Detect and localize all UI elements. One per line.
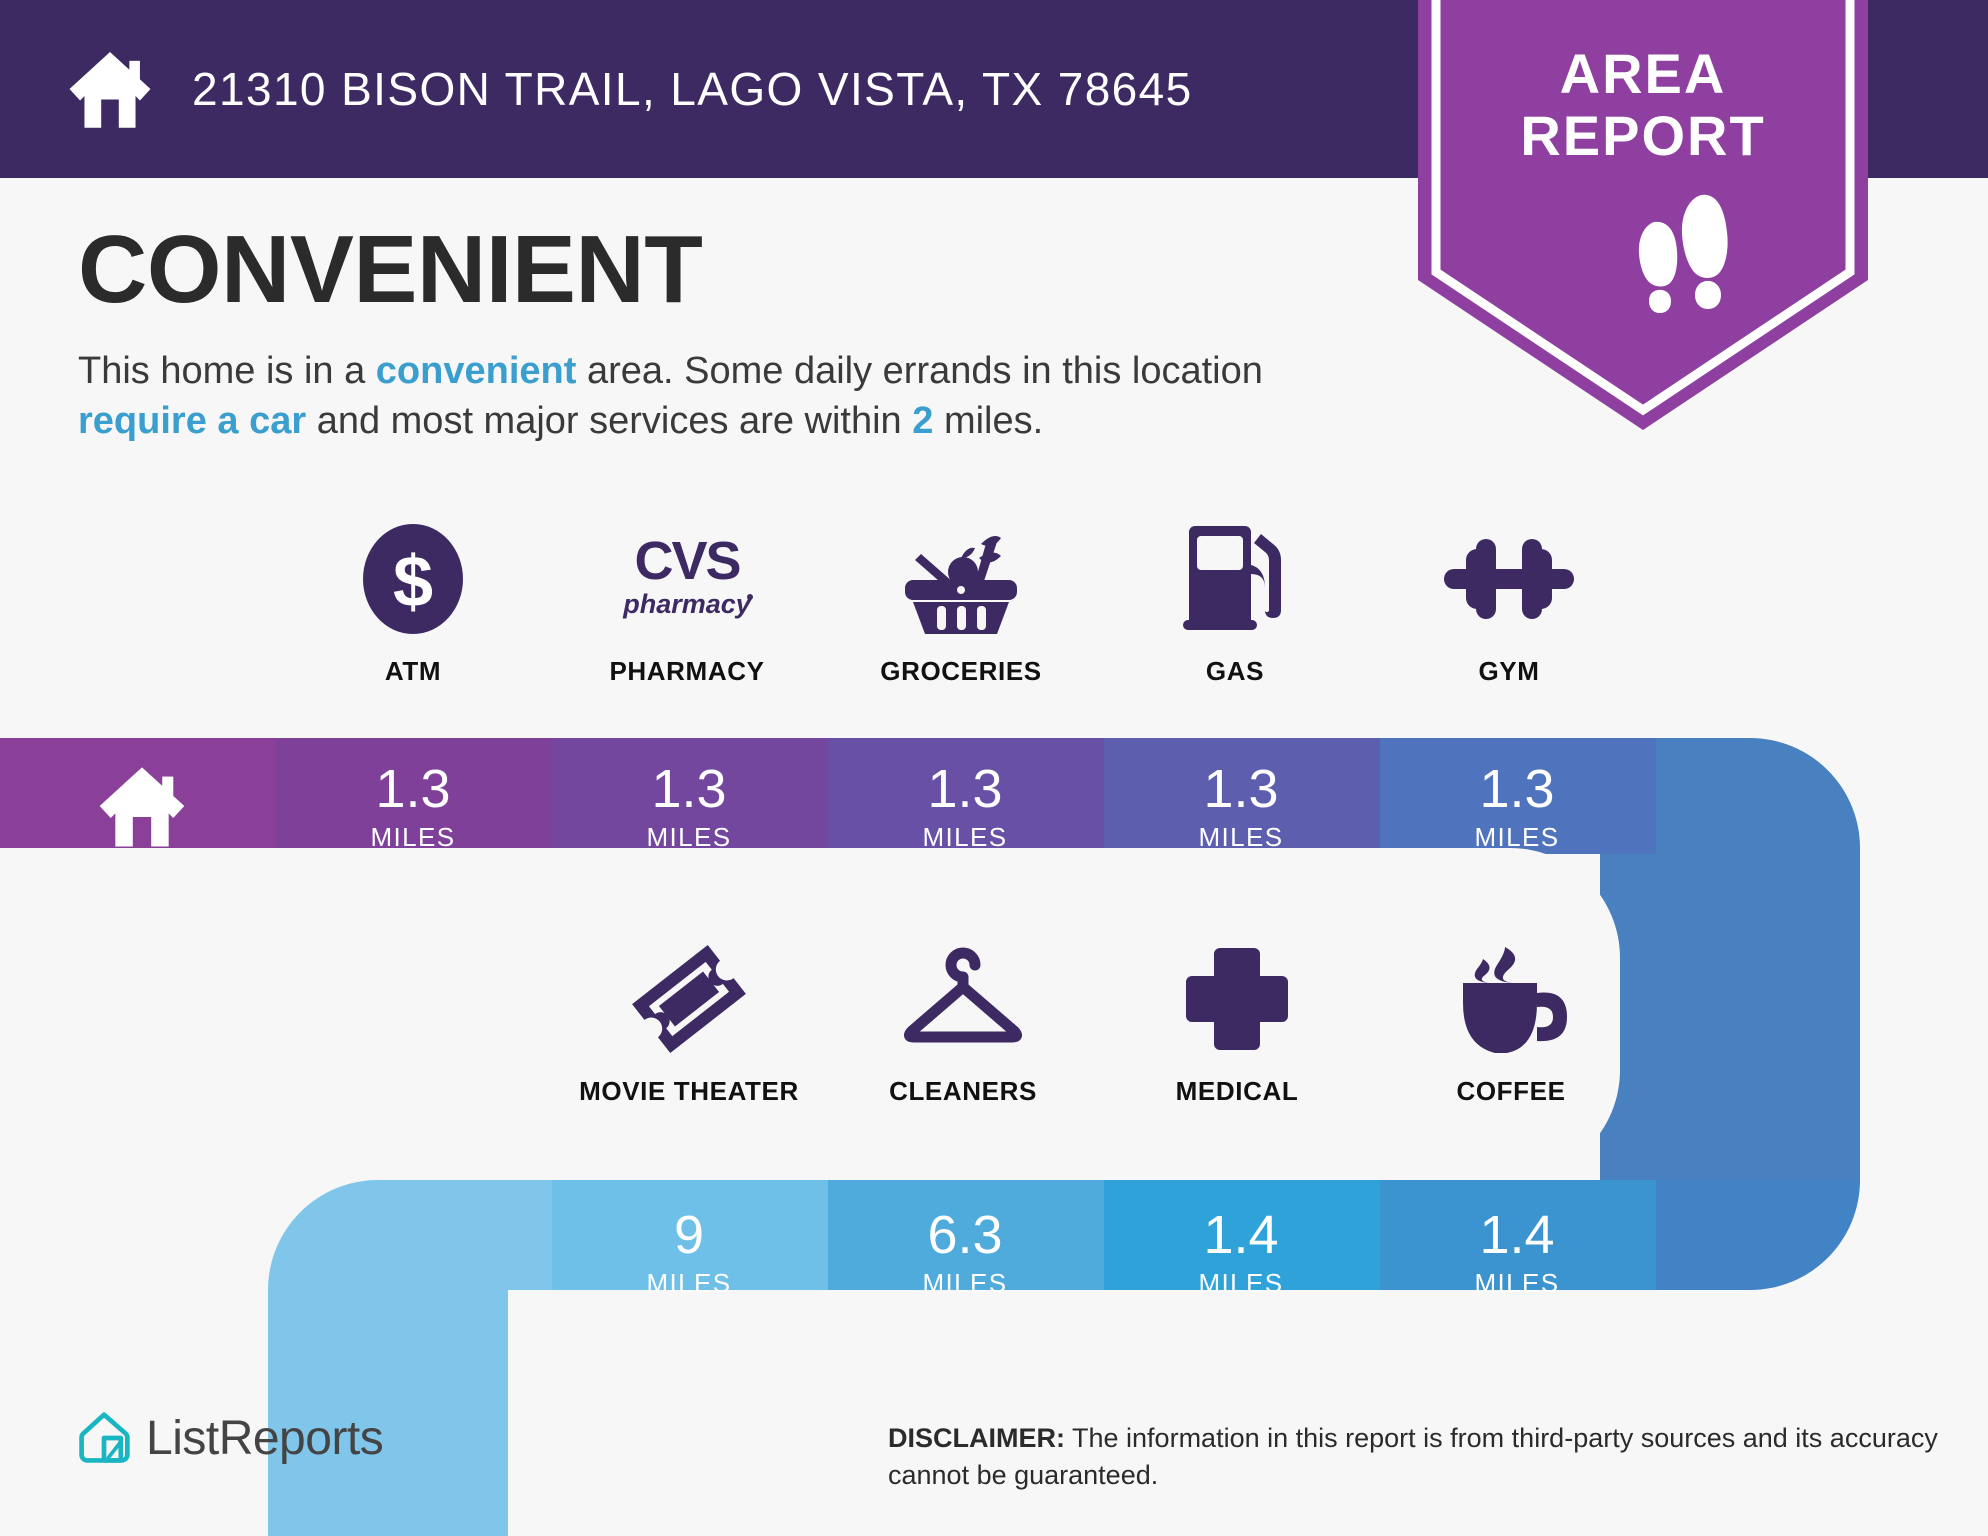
home-marker-icon [92, 760, 192, 852]
ribbon-seg-atm [276, 730, 552, 854]
ribbon-seg-pharmacy [552, 730, 828, 854]
ribbon-seg-gym [1380, 730, 1656, 854]
ribbon-seg-cleaners [828, 1180, 1104, 1304]
ribbon-seg-corner-left [180, 1180, 552, 1304]
badge-line-1: AREA [1560, 42, 1727, 105]
ribbon-right-connector [1600, 854, 1988, 1184]
ribbon-seg-corner-bottom [1656, 1180, 1988, 1304]
area-report-badge: AREA REPORT [1418, 0, 1868, 430]
listreports-logo[interactable]: ListReports [76, 1410, 383, 1466]
badge-text: AREA REPORT [1418, 46, 1868, 164]
ribbon-seg-medical [1104, 1180, 1380, 1304]
ribbon-seg-corner-top [1656, 730, 1988, 854]
ribbon-seg-groceries [828, 730, 1104, 854]
ribbon-seg-movie [552, 1180, 828, 1304]
disclaimer-label: DISCLAIMER: [888, 1423, 1065, 1453]
ribbon-seg-coffee [1380, 1180, 1656, 1304]
listreports-house-icon [76, 1410, 132, 1466]
badge-line-2: REPORT [1418, 108, 1868, 164]
disclaimer: DISCLAIMER: The information in this repo… [888, 1420, 1938, 1495]
ribbon-seg-gas [1104, 730, 1380, 854]
listreports-logo-text: ListReports [146, 1411, 383, 1466]
